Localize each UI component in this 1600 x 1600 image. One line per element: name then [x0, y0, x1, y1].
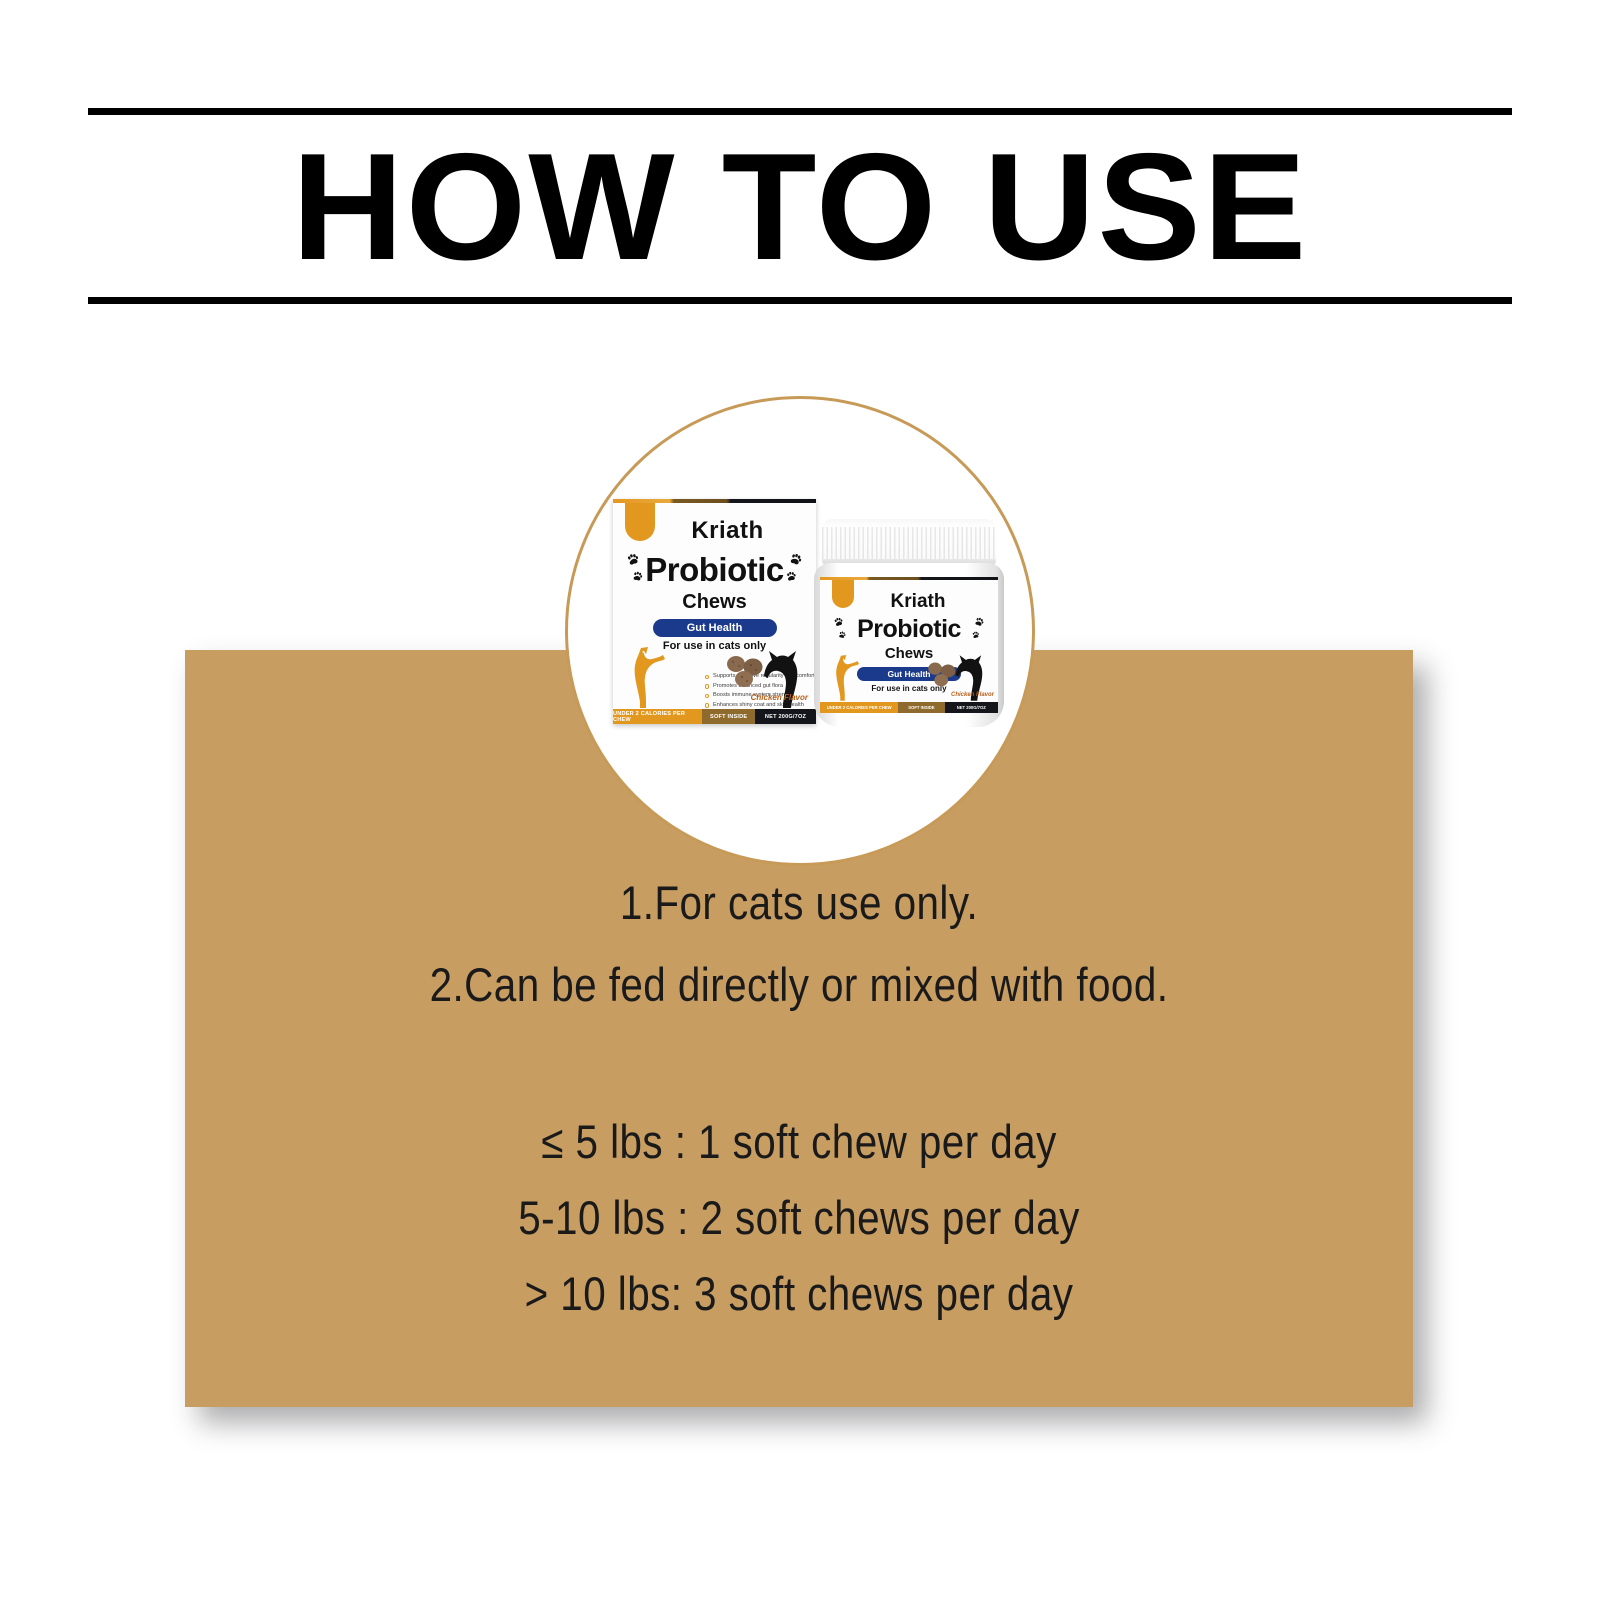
- orange-cat-silhouette-icon: [832, 651, 862, 701]
- jar-footer-strip: UNDER 2 CALORIES PER CHEW SOFT INSIDE NE…: [820, 702, 998, 713]
- page-title-block: HOW TO USE: [88, 108, 1512, 304]
- jar-cap: [822, 519, 996, 565]
- carton-product-title: Probiotic: [613, 551, 816, 589]
- jar-body: Kriath Probiotic: [814, 563, 1004, 727]
- infographic-canvas: HOW TO USE Kriath: [0, 0, 1600, 1600]
- dosage-line-over-10lbs: > 10 lbs: 3 soft chews per day: [271, 1256, 1327, 1332]
- carton-calories-text: UNDER 2 CALORIES PER CHEW: [613, 709, 702, 724]
- page-title: HOW TO USE: [74, 115, 1526, 297]
- jar-brand: Kriath: [820, 591, 998, 613]
- carton-product-subtitle: Chews: [613, 591, 816, 614]
- dosage-line-under-5lbs: ≤ 5 lbs : 1 soft chew per day: [271, 1104, 1327, 1180]
- instruction-step-2: 2.Can be fed directly or mixed with food…: [271, 944, 1327, 1026]
- title-rule-top: [88, 108, 1512, 115]
- carton-flavor-label: Chicken Flavor: [751, 693, 808, 702]
- dosage-group: ≤ 5 lbs : 1 soft chew per day 5-10 lbs :…: [185, 1104, 1413, 1332]
- title-rule-bottom: [88, 297, 1512, 304]
- product-hero-clip: Kriath Probiotic Chews Gut Health For us…: [568, 399, 1032, 863]
- jar-calories-text: UNDER 2 CALORIES PER CHEW: [820, 702, 898, 713]
- jar-texture-text: SOFT INSIDE: [898, 702, 944, 713]
- carton-brand: Kriath: [613, 517, 816, 545]
- dosage-line-5-to-10lbs: 5-10 lbs : 2 soft chews per day: [271, 1180, 1327, 1256]
- product-jar: Kriath Probiotic: [814, 519, 1004, 729]
- orange-cat-silhouette-icon: [629, 642, 669, 708]
- product-hero-circle: Kriath Probiotic Chews Gut Health For us…: [565, 396, 1035, 866]
- jar-net-weight-text: NET 200G/7OZ: [945, 702, 998, 713]
- jar-product-title: Probiotic: [820, 615, 998, 644]
- jar-flavor-label: Chicken Flavor: [951, 692, 994, 698]
- product-carton: Kriath Probiotic Chews Gut Health For us…: [613, 499, 816, 724]
- instruction-step-1: 1.For cats use only.: [271, 862, 1327, 944]
- jar-label: Kriath Probiotic: [820, 577, 998, 713]
- carton-texture-text: SOFT INSIDE: [702, 709, 755, 724]
- carton-net-weight-text: NET 200G/7OZ: [755, 709, 816, 724]
- instructions-block: 1.For cats use only. 2.Can be fed direct…: [185, 862, 1413, 1332]
- jar-cap-ribs: [822, 527, 996, 559]
- gut-health-badge: Gut Health: [653, 619, 777, 637]
- carton-footer-strip: UNDER 2 CALORIES PER CHEW SOFT INSIDE NE…: [613, 709, 816, 724]
